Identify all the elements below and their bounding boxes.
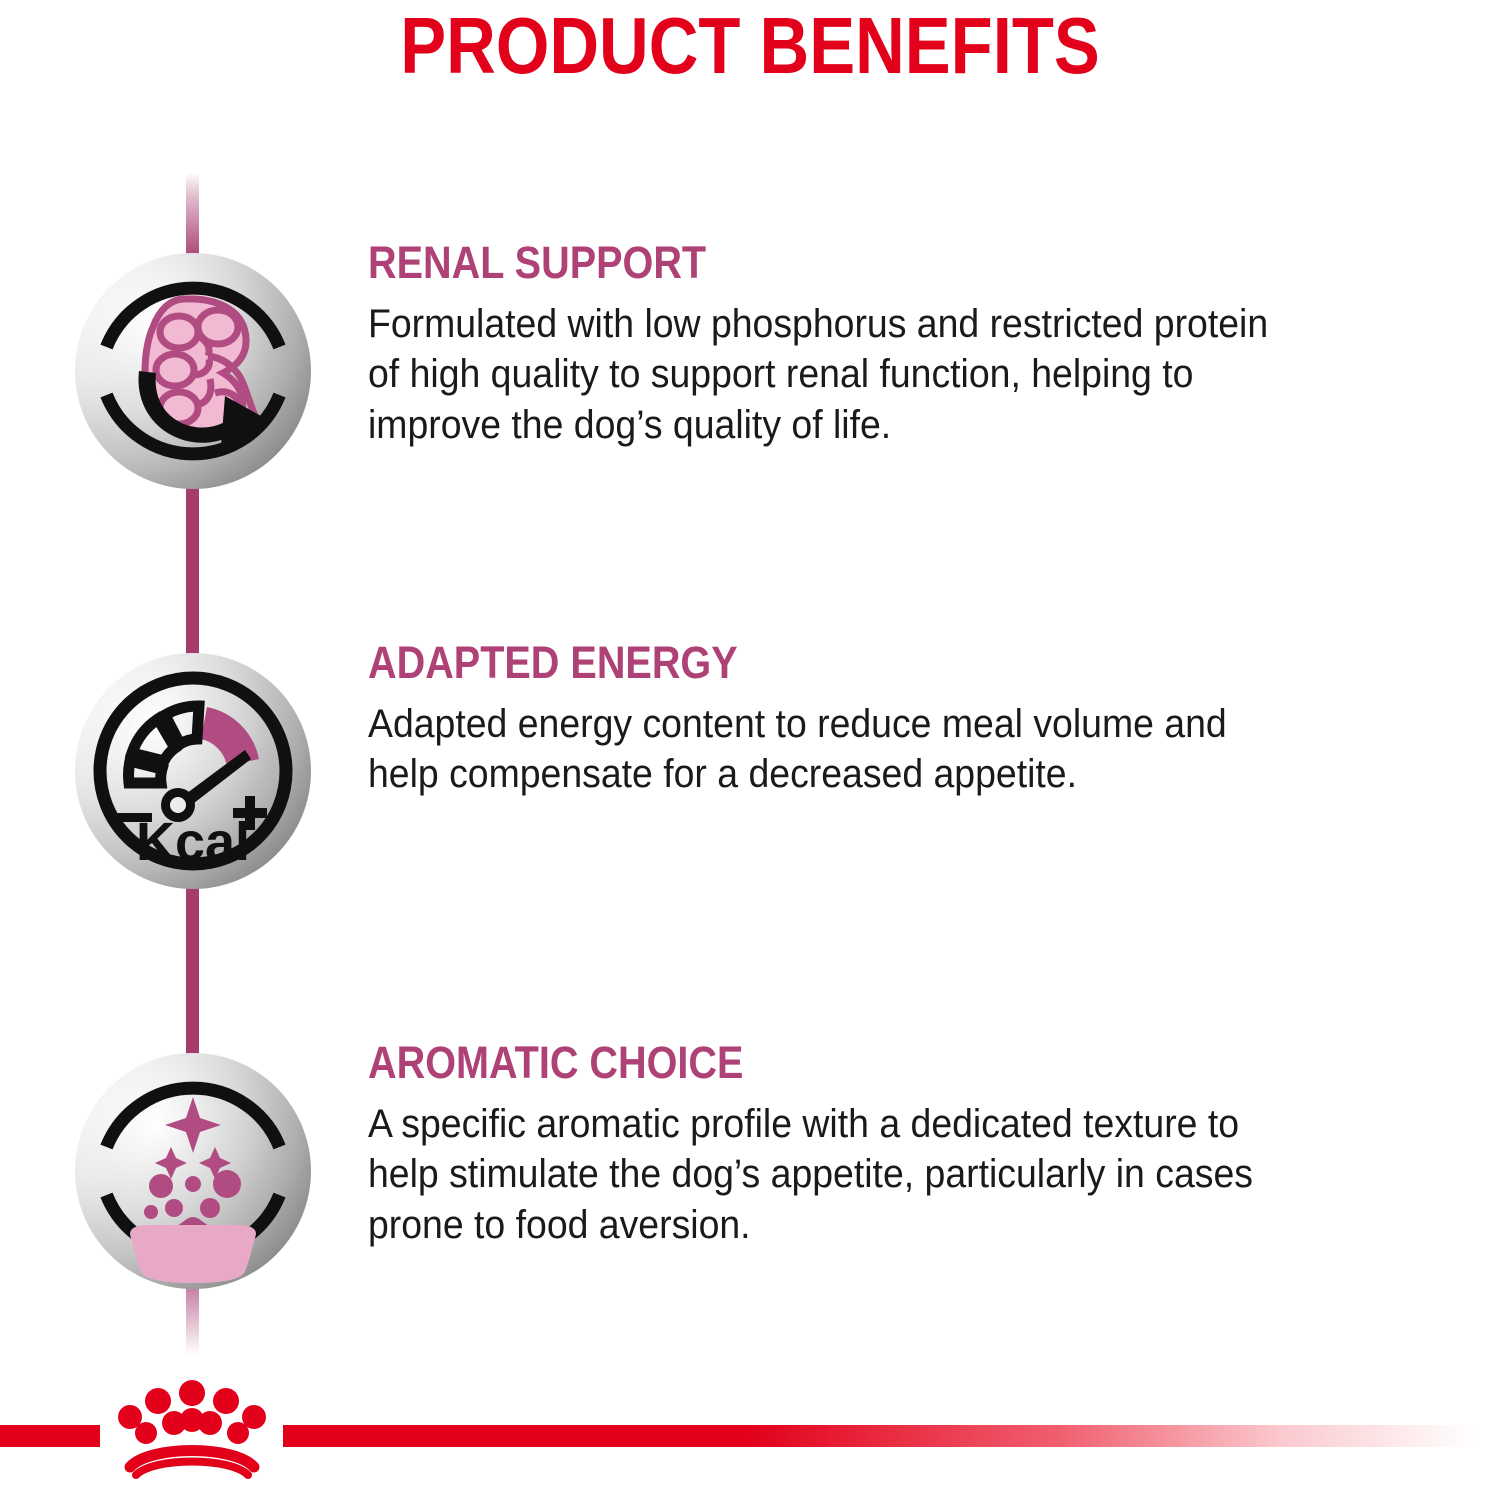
benefit-heading: ADAPTED ENERGY xyxy=(368,640,1362,685)
benefit-body: Formulated with low phosphorus and restr… xyxy=(368,299,1425,450)
benefit-body-line: improve the dog’s quality of life. xyxy=(368,400,1425,450)
benefit-body-line: of high quality to support renal functio… xyxy=(368,349,1425,399)
food-bowl xyxy=(130,1225,256,1283)
footer-bar-right xyxy=(283,1425,1500,1447)
benefit-text-block: ADAPTED ENERGY Adapted energy content to… xyxy=(368,640,1498,800)
page-title: PRODUCT BENEFITS xyxy=(105,6,1395,86)
footer xyxy=(0,1370,1500,1500)
benefit-body: A specific aromatic profile with a dedic… xyxy=(368,1099,1425,1250)
benefit-text-block: RENAL SUPPORT Formulated with low phosph… xyxy=(368,240,1498,450)
aroma-dots xyxy=(144,1170,241,1219)
kcal-gauge-icon: Kcal xyxy=(75,653,311,889)
benefit-body-line: A specific aromatic profile with a dedic… xyxy=(368,1099,1425,1149)
footer-bar-left xyxy=(0,1425,100,1447)
connector-line-top xyxy=(186,172,199,262)
aromatic-food-bowl-icon xyxy=(75,1053,311,1289)
benefit-body-line: help compensate for a decreased appetite… xyxy=(368,749,1425,799)
benefit-body-line: Formulated with low phosphorus and restr… xyxy=(368,299,1425,349)
aromatic-food-bowl-icon-glyph xyxy=(75,1053,311,1289)
royal-canin-crown-logo xyxy=(108,1375,276,1485)
benefit-body-line: help stimulate the dog’s appetite, parti… xyxy=(368,1149,1425,1199)
benefit-body: Adapted energy content to reduce meal vo… xyxy=(368,699,1425,800)
benefit-body-line: prone to food aversion. xyxy=(368,1200,1425,1250)
kcal-gauge-icon-glyph: Kcal xyxy=(75,653,311,889)
benefit-body-line: Adapted energy content to reduce meal vo… xyxy=(368,699,1425,749)
kidney-renal-icon-glyph xyxy=(75,253,311,489)
benefit-heading: RENAL SUPPORT xyxy=(368,240,1362,285)
kidney-renal-icon xyxy=(75,253,311,489)
benefit-text-block: AROMATIC CHOICE A specific aromatic prof… xyxy=(368,1040,1498,1250)
benefit-heading: AROMATIC CHOICE xyxy=(368,1040,1362,1085)
kcal-label: Kcal xyxy=(136,812,250,872)
product-benefits-page: PRODUCT BENEFITS xyxy=(0,0,1500,1500)
sparkle-large xyxy=(165,1097,221,1153)
